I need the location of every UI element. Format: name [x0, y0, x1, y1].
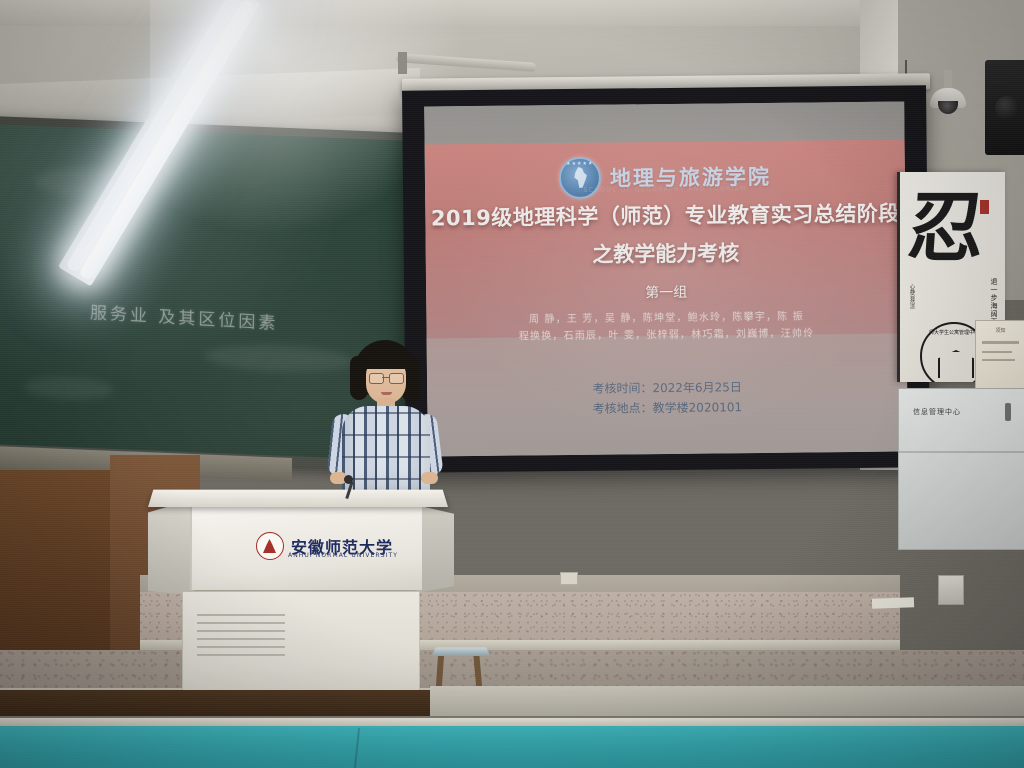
lectern-front-panel: 安徽师范大学 ANHUI NORMAL UNIVERSITY	[190, 504, 422, 590]
glasses-icon	[369, 373, 403, 382]
foreground-desk	[0, 726, 1024, 768]
university-name-en: ANHUI NORMAL UNIVERSITY	[288, 552, 398, 559]
round-seal-text: 师大学生公寓管理中心	[928, 329, 980, 336]
presenter	[322, 340, 446, 505]
projection-screen-surface: ★★★★★ 地理与旅游学院 SCHOOL OF GEOGRAPHY AND TO…	[424, 101, 908, 456]
papers-on-floor	[872, 597, 914, 608]
foreground-light-wall	[430, 686, 1024, 718]
wall-utility-box	[938, 575, 964, 605]
calligraphy-signature: 心静自然凉	[908, 284, 915, 309]
mouth	[381, 392, 392, 395]
notice-line	[982, 351, 1012, 353]
lectern-vent	[197, 622, 285, 624]
cabinet-label: 信息管理中心	[913, 407, 961, 417]
lectern-vent	[197, 654, 285, 656]
lectern-vent	[197, 630, 285, 632]
glasses-lens-left	[369, 373, 384, 384]
university-seal-icon	[256, 532, 284, 560]
slide-info-place-value: 教学楼2020101	[653, 400, 743, 415]
lectern-desktop[interactable]	[148, 490, 448, 507]
conduit-bracket	[398, 52, 407, 74]
classroom-photo: 服务业 及其区位因素 ★★★★★	[0, 0, 1024, 768]
crest-stars-icon: ★★★★★	[561, 161, 599, 167]
calligraphy-seal-icon	[980, 200, 989, 214]
calligraphy-character: 忍	[905, 190, 986, 266]
slide-info-time-label: 考核时间：	[592, 381, 652, 396]
notice-title: 须知	[976, 327, 1024, 334]
slide-info-time-value: 2022年6月25日	[652, 380, 742, 395]
speaker-cone-icon	[995, 96, 1019, 120]
lectern-left-side	[148, 499, 194, 595]
cabinet-handle[interactable]	[1005, 403, 1011, 421]
info-center-cabinet[interactable]: 信息管理中心	[898, 388, 1024, 550]
lectern-vent	[197, 614, 285, 616]
slide-info-block: 考核时间：2022年6月25日 考核地点：教学楼2020101	[427, 375, 907, 420]
wall-speaker	[985, 60, 1024, 155]
hand-right	[421, 472, 438, 484]
projection-screen: ★★★★★ 地理与旅游学院 SCHOOL OF GEOGRAPHY AND TO…	[402, 85, 930, 472]
hair-fringe	[362, 352, 410, 369]
notice-line	[982, 359, 1015, 361]
lectern-vent	[197, 646, 285, 648]
slide-title-line2: 之教学能力考核	[426, 235, 906, 270]
presentation-slide: ★★★★★ 地理与旅游学院 SCHOOL OF GEOGRAPHY AND TO…	[424, 101, 908, 456]
slide-info-place-label: 考核地点：	[593, 401, 653, 416]
notice-line	[982, 341, 1019, 344]
foreground-dark-wall	[0, 690, 430, 718]
glasses-bridge	[382, 377, 389, 378]
cabinet-seam	[899, 451, 1024, 453]
lectern-vent	[197, 638, 285, 640]
wall-outlet	[560, 572, 578, 585]
slide-name-list: 周 静，王 芳，吴 静，陈坤堂，鲍水玲，陈攀宇，陈 振 程换换，石雨辰，叶 雯，…	[426, 307, 906, 346]
microphone-icon	[344, 475, 353, 484]
slide-title-line1: 2019级地理科学（师范）专业教育实习总结阶段	[425, 197, 905, 232]
glasses-lens-right	[389, 373, 404, 384]
